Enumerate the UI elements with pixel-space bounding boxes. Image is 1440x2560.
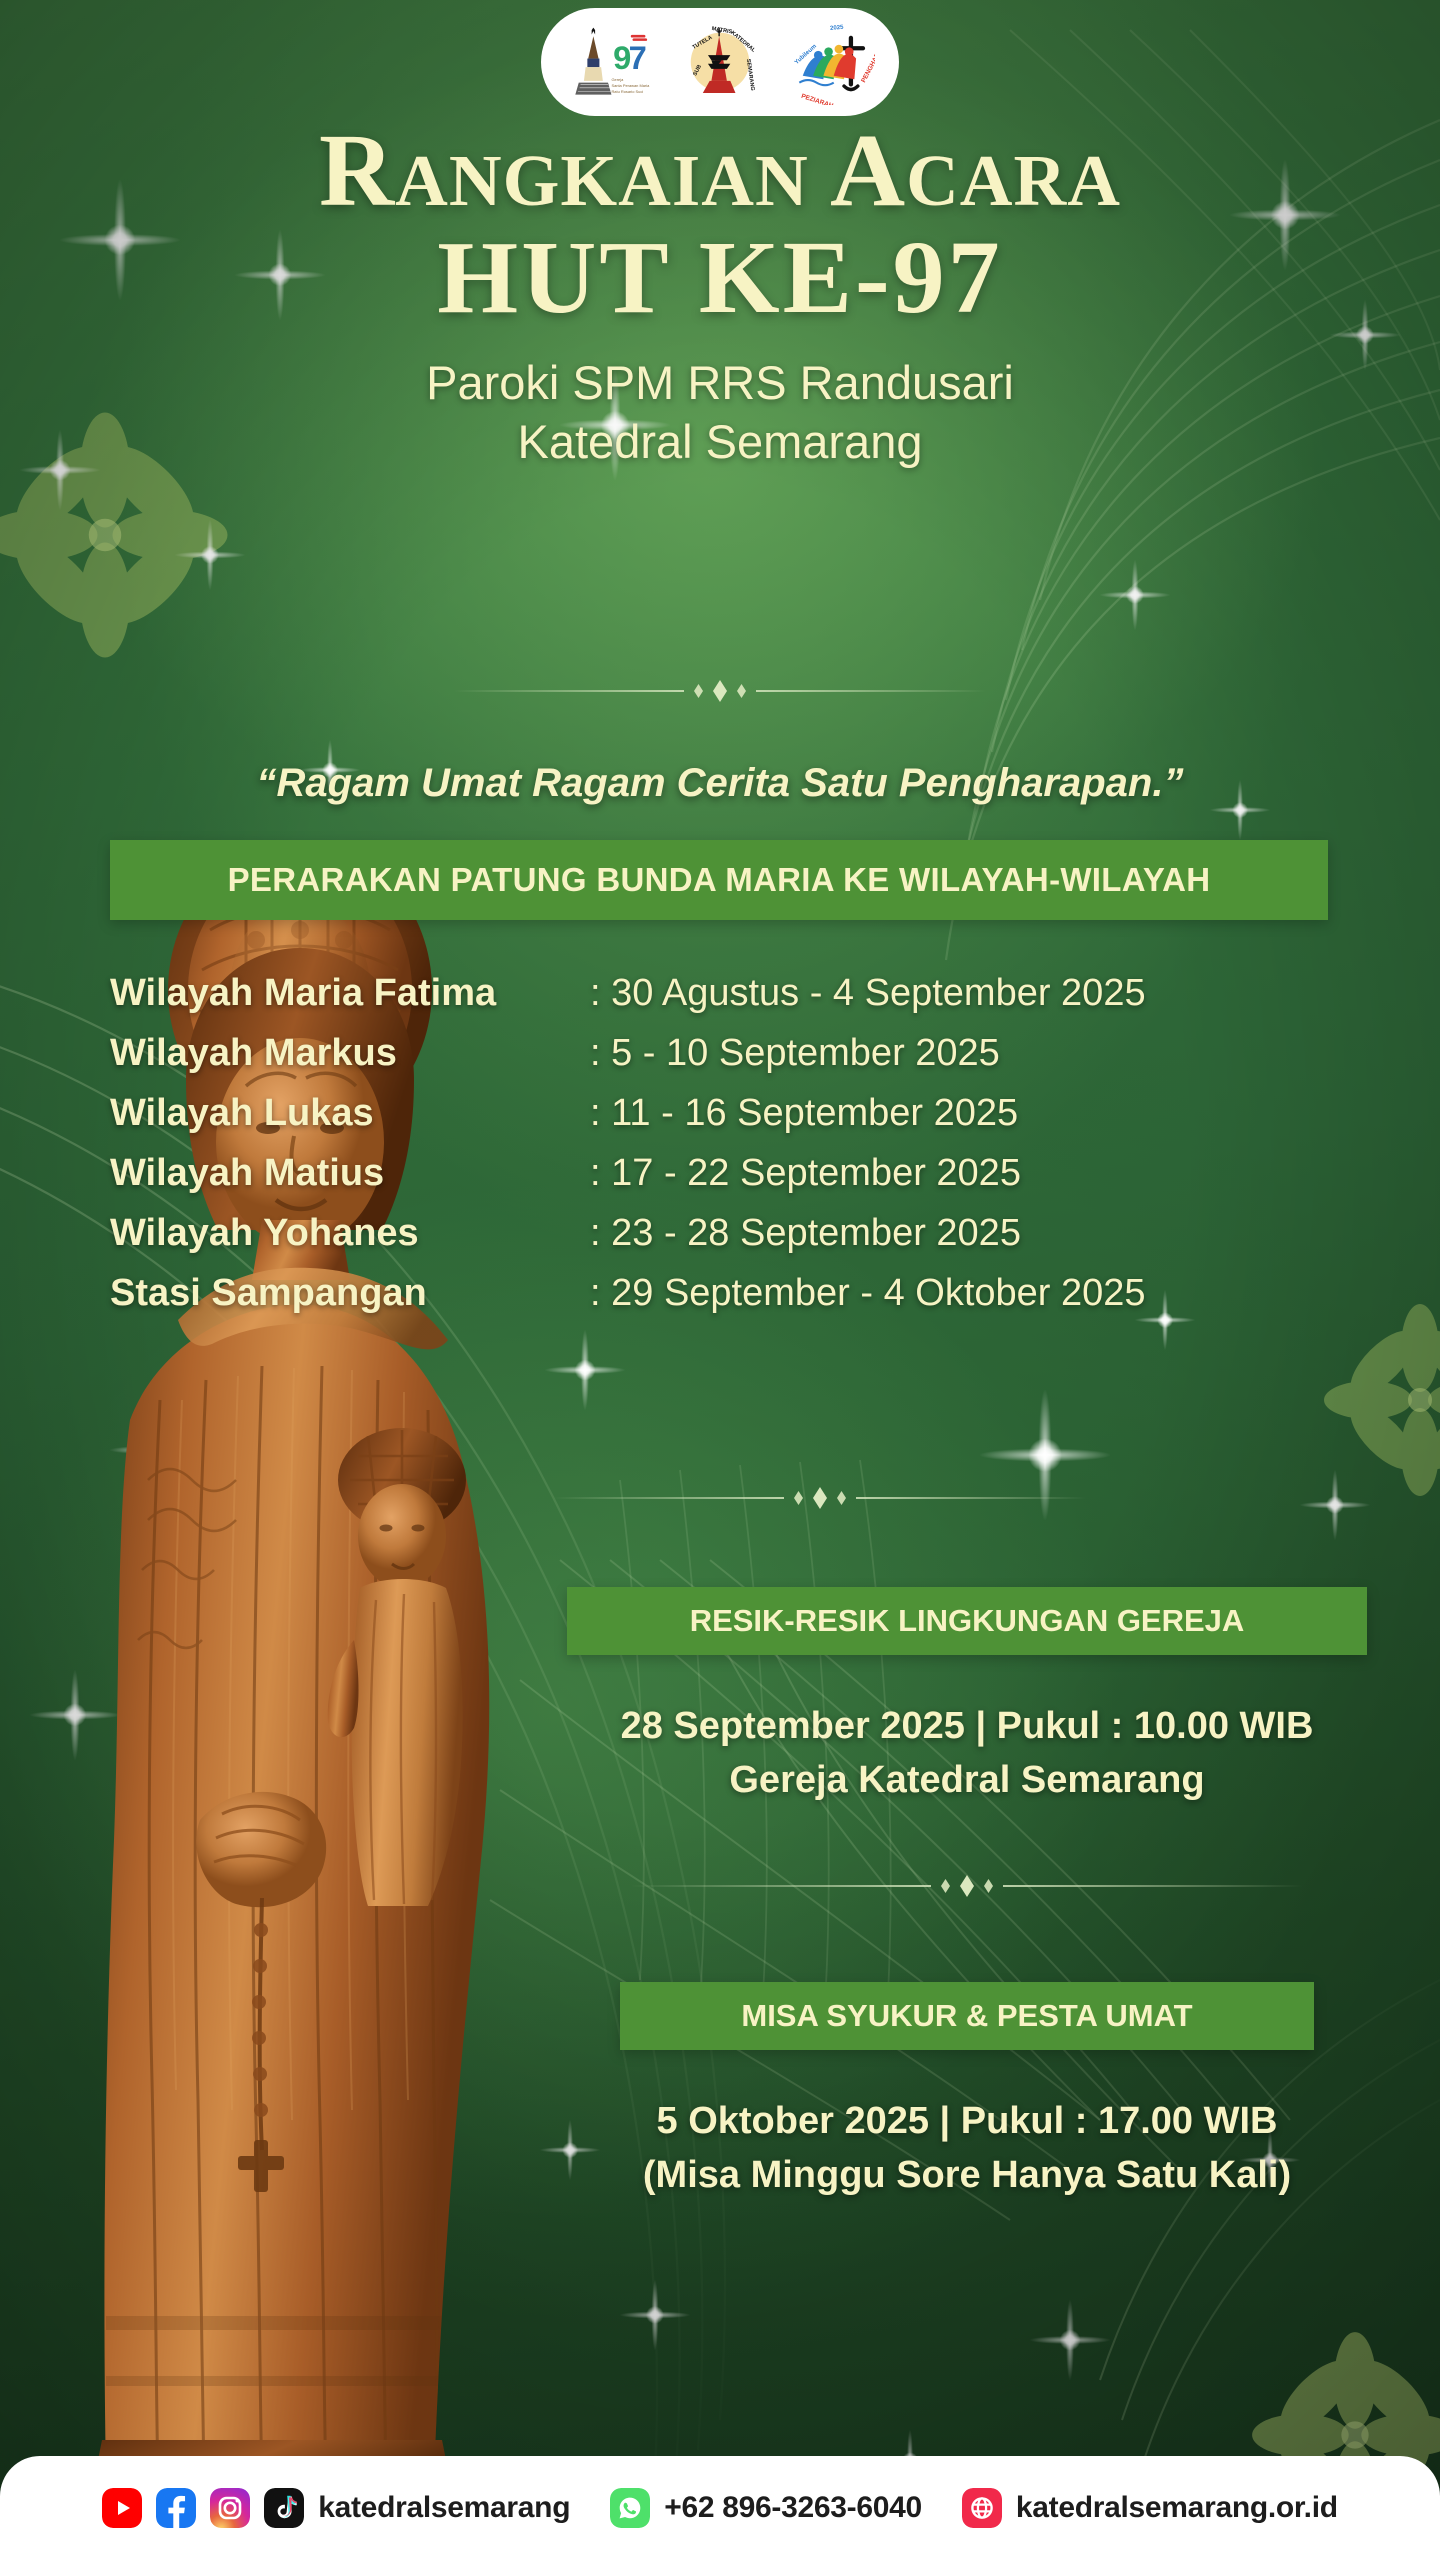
tiktok-icon[interactable] xyxy=(264,2488,304,2528)
schedule-row: Stasi Sampangan : 29 September - 4 Oktob… xyxy=(110,1272,1310,1315)
svg-text:7: 7 xyxy=(629,39,647,76)
svg-text:Gereja: Gereja xyxy=(611,77,624,82)
divider-line-left xyxy=(454,690,684,692)
parish-name: Paroki SPM RRS Randusari Katedral Semara… xyxy=(0,354,1440,472)
banner-misa-syukur: MISA SYUKUR & PESTA UMAT xyxy=(620,1982,1314,2050)
diamond-small-icon xyxy=(694,684,703,698)
schedule-row: Wilayah Matius : 17 - 22 September 2025 xyxy=(110,1152,1310,1195)
diamond-icon xyxy=(960,1875,974,1897)
misa-details: 5 Oktober 2025 | Pukul : 17.00 WIB (Misa… xyxy=(567,2095,1367,2203)
youtube-icon[interactable] xyxy=(102,2488,142,2528)
poster-root: 9 7 Gereja Santa Perawan Maria Ratu Rosa… xyxy=(0,0,1440,2560)
diamond-small-icon xyxy=(737,684,746,698)
parish-line-2: Katedral Semarang xyxy=(0,413,1440,472)
diamond-icon xyxy=(813,1487,827,1509)
resik-details: 28 September 2025 | Pukul : 10.00 WIB Ge… xyxy=(567,1700,1367,1808)
schedule-area-name: Stasi Sampangan xyxy=(110,1272,590,1315)
schedule-date: : 17 - 22 September 2025 xyxy=(590,1152,1021,1195)
diamond-small-icon xyxy=(941,1879,950,1893)
website-globe-icon[interactable] xyxy=(962,2488,1002,2528)
schedule-date: : 5 - 10 September 2025 xyxy=(590,1032,1000,1075)
resik-location: Gereja Katedral Semarang xyxy=(567,1754,1367,1808)
header-block: Rangkaian Acara HUT KE-97 Paroki SPM RRS… xyxy=(0,120,1440,471)
svg-text:Ratu Rosario Suci: Ratu Rosario Suci xyxy=(611,89,643,94)
banner-perarakan: PERARAKAN PATUNG BUNDA MARIA KE WILAYAH-… xyxy=(110,840,1328,920)
banner-resik-resik: RESIK-RESIK LINGKUNGAN GEREJA xyxy=(567,1587,1367,1655)
divider-line-left xyxy=(631,1885,931,1887)
divider-ornament-lower xyxy=(567,1875,1367,1897)
svg-text:PEZIARAH: PEZIARAH xyxy=(800,93,834,105)
divider-line-right xyxy=(756,690,986,692)
schedule-date: : 30 Agustus - 4 September 2025 xyxy=(590,972,1146,1015)
divider-ornament-middle xyxy=(310,1487,1330,1509)
logo-sub-tutela-matris-katedral-semarang: SUB TUTELA MATRIS KATEDRAL SEMARANG xyxy=(677,19,763,105)
misa-datetime: 5 Oktober 2025 | Pukul : 17.00 WIB xyxy=(567,2095,1367,2149)
divider-ornament-top xyxy=(210,680,1230,702)
svg-text:PENGHARAPAN: PENGHARAPAN xyxy=(860,36,875,84)
diamond-icon xyxy=(713,680,727,702)
sparkle xyxy=(1100,560,1170,630)
schedule-area-name: Wilayah Maria Fatima xyxy=(110,972,590,1015)
schedule-area-name: Wilayah Markus xyxy=(110,1032,590,1075)
svg-text:2025: 2025 xyxy=(830,25,845,32)
svg-text:Santa Perawan Maria: Santa Perawan Maria xyxy=(611,83,650,88)
schedule-row: Wilayah Yohanes : 23 - 28 September 2025 xyxy=(110,1212,1310,1255)
logo-hut-97-gereja-santa-perawan-maria-ratu-rosario-suci: 9 7 Gereja Santa Perawan Maria Ratu Rosa… xyxy=(565,19,651,105)
sparkle xyxy=(620,2280,690,2350)
footer-contact-bar: katedralsemarang +62 896-3263-6040 kated… xyxy=(0,2456,1440,2560)
whatsapp-icon[interactable] xyxy=(610,2488,650,2528)
whatsapp-number[interactable]: +62 896-3263-6040 xyxy=(664,2491,922,2525)
diamond-small-icon xyxy=(837,1491,846,1505)
page-title-line2: HUT KE-97 xyxy=(0,226,1440,330)
schedule-row: Wilayah Markus : 5 - 10 September 2025 xyxy=(110,1032,1310,1075)
social-handle[interactable]: katedralsemarang xyxy=(318,2491,570,2525)
diamond-small-icon xyxy=(794,1491,803,1505)
schedule-row: Wilayah Maria Fatima : 30 Agustus - 4 Se… xyxy=(110,972,1310,1015)
sparkle xyxy=(175,520,245,590)
schedule-area-name: Wilayah Yohanes xyxy=(110,1212,590,1255)
schedule-date: : 29 September - 4 Oktober 2025 xyxy=(590,1272,1146,1315)
diamond-small-icon xyxy=(984,1879,993,1893)
schedule-row: Wilayah Lukas : 11 - 16 September 2025 xyxy=(110,1092,1310,1135)
website-url[interactable]: katedralsemarang.or.id xyxy=(1016,2491,1338,2525)
resik-datetime: 28 September 2025 | Pukul : 10.00 WIB xyxy=(567,1700,1367,1754)
schedule-area-name: Wilayah Lukas xyxy=(110,1092,590,1135)
divider-line-right xyxy=(856,1497,1086,1499)
divider-line-right xyxy=(1003,1885,1303,1887)
schedule-list: Wilayah Maria Fatima : 30 Agustus - 4 Se… xyxy=(110,972,1310,1332)
divider-line-left xyxy=(554,1497,784,1499)
schedule-area-name: Wilayah Matius xyxy=(110,1152,590,1195)
logo-bar: 9 7 Gereja Santa Perawan Maria Ratu Rosa… xyxy=(541,8,899,116)
flower-ornament-right-mid xyxy=(1320,1300,1440,1500)
facebook-icon[interactable] xyxy=(156,2488,196,2528)
logo-yubileum-2025-peziarah-pengharapan: Yubileum 2025 PEZIARAH PENGHARAPAN xyxy=(789,19,875,105)
svg-text:SEMARANG: SEMARANG xyxy=(745,59,755,92)
theme-quote: “Ragam Umat Ragam Cerita Satu Pengharapa… xyxy=(0,761,1440,806)
instagram-icon[interactable] xyxy=(210,2488,250,2528)
parish-line-1: Paroki SPM RRS Randusari xyxy=(0,354,1440,413)
schedule-date: : 23 - 28 September 2025 xyxy=(590,1212,1021,1255)
schedule-date: : 11 - 16 September 2025 xyxy=(590,1092,1018,1135)
sparkle xyxy=(1030,2300,1110,2380)
misa-note: (Misa Minggu Sore Hanya Satu Kali) xyxy=(567,2149,1367,2203)
page-title: Rangkaian Acara xyxy=(0,120,1440,222)
